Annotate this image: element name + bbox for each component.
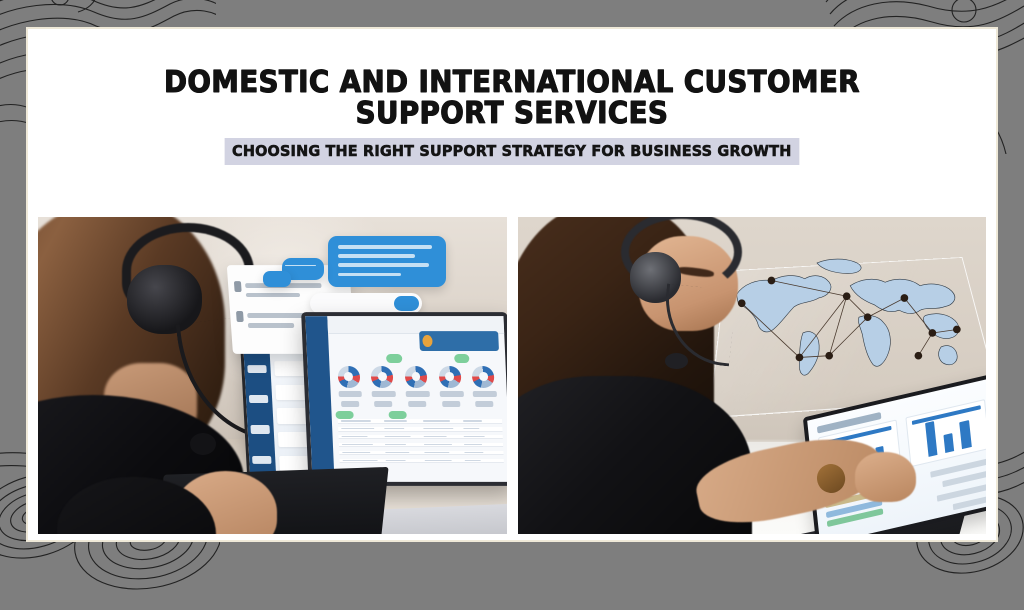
world-map-hologram	[719, 249, 981, 408]
card-frame: DOMESTIC AND INTERNATIONAL CUSTOMER SUPP…	[26, 27, 998, 542]
left-crm-donut-chart	[438, 366, 461, 388]
left-crm-donut-chart	[405, 366, 428, 388]
left-crm-donut-chart	[337, 366, 360, 388]
left-headset-microphone-icon	[190, 433, 216, 455]
content-card: DOMESTIC AND INTERNATIONAL CUSTOMER SUPP…	[28, 29, 996, 540]
left-photo	[38, 217, 507, 534]
right-agent-hand	[855, 452, 916, 503]
photo-row	[38, 217, 986, 534]
heading-block: DOMESTIC AND INTERNATIONAL CUSTOMER SUPP…	[28, 67, 996, 165]
left-crm-donut-chart	[371, 366, 394, 388]
slide-root: DOMESTIC AND INTERNATIONAL CUSTOMER SUPP…	[0, 0, 1024, 576]
subtitle-wrapper: CHOOSING THE RIGHT SUPPORT STRATEGY FOR …	[68, 138, 956, 165]
right-dashboard-chart-panel	[905, 398, 986, 466]
left-search-bar	[310, 293, 422, 314]
left-laptop-screen	[305, 316, 506, 482]
left-crm-donut-chart	[472, 366, 495, 388]
page-subtitle: CHOOSING THE RIGHT SUPPORT STRATEGY FOR …	[225, 138, 799, 165]
right-photo	[518, 217, 987, 534]
left-crm-notification-toast	[419, 331, 499, 351]
page-title: DOMESTIC AND INTERNATIONAL CUSTOMER SUPP…	[104, 67, 921, 129]
left-chat-bubble-large	[328, 236, 445, 287]
left-chat-bubble-small	[263, 271, 291, 287]
left-crm-sidebar	[305, 316, 334, 482]
left-laptop-device	[301, 312, 506, 486]
map-node-markers-icon	[719, 249, 981, 389]
